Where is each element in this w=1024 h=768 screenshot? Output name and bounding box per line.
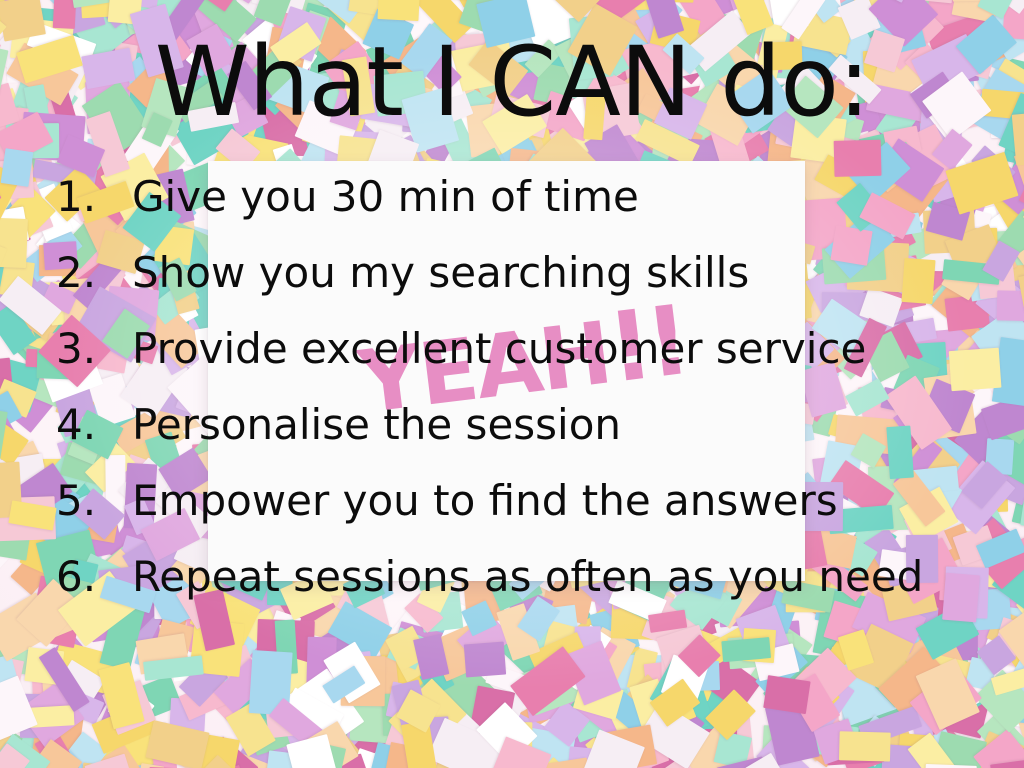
list-item: 3. Provide excellent customer service: [56, 318, 986, 379]
list-item: 1. Give you 30 min of time: [56, 166, 986, 227]
list-item-number: 1.: [56, 166, 132, 227]
list-item-number: 3.: [56, 318, 132, 379]
list-item-label: Show you my searching skills: [132, 242, 986, 303]
list-item-number: 5.: [56, 470, 132, 531]
list-item: 4. Personalise the session: [56, 394, 986, 455]
list-item-label: Give you 30 min of time: [132, 166, 986, 227]
confetti-piece: [0, 217, 27, 268]
list-item-label: Personalise the session: [132, 394, 986, 455]
confetti-piece: [997, 290, 1024, 321]
confetti-piece: [464, 641, 506, 677]
list-item-number: 2.: [56, 242, 132, 303]
list-item-label: Provide excellent customer service: [132, 318, 986, 379]
list-item: 5. Empower you to find the answers: [56, 470, 986, 531]
confetti-piece: [377, 0, 419, 21]
confetti-piece: [721, 637, 771, 662]
slide-root: YEAH!! What I CAN do: 1. Give you 30 min…: [0, 0, 1024, 768]
list-item-number: 4.: [56, 394, 132, 455]
list-item-label: Empower you to find the answers: [132, 470, 986, 531]
confetti-piece: [0, 148, 32, 186]
page-title: What I CAN do:: [0, 34, 1024, 130]
list-item-label: Repeat sessions as often as you need: [132, 546, 986, 607]
confetti-piece: [763, 675, 811, 714]
confetti-piece: [839, 731, 891, 762]
list-item-number: 6.: [56, 546, 132, 607]
numbered-list: 1. Give you 30 min of time 2. Show you m…: [56, 166, 986, 622]
list-item: 2. Show you my searching skills: [56, 242, 986, 303]
list-item: 6. Repeat sessions as often as you need: [56, 546, 986, 607]
